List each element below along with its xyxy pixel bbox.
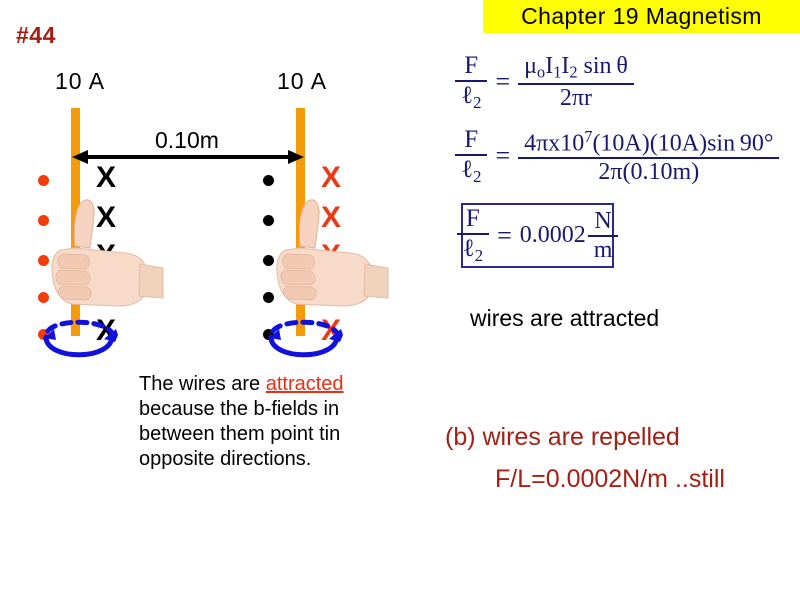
field-dot <box>263 175 274 186</box>
right-hand-rule-hand-right <box>270 198 390 323</box>
attracted-statement: wires are attracted <box>470 305 659 332</box>
right-hand-rule-hand-left <box>45 198 165 323</box>
chapter-title-banner: Chapter 19 Magnetism <box>483 0 800 33</box>
equation-result-box: F ℓ2 = 0.0002 N m <box>461 203 614 268</box>
equation-2-lhs: F ℓ2 <box>455 126 487 187</box>
unit-numerator: N <box>588 208 617 235</box>
equation-2-rhs: 4πx107(10A)(10A)sin 90° 2π(0.10m) <box>518 127 779 186</box>
equation-1-lhs: F ℓ2 <box>455 52 487 113</box>
magnetic-field-loop-left <box>32 311 128 367</box>
equation-3-value: 0.0002 <box>520 222 586 249</box>
equation-2-lhs-numerator: F <box>458 126 484 154</box>
answer-b-detail: F/L=0.0002N/m ..still <box>495 465 725 494</box>
equation-general-force: F ℓ2 = μoI1I2 sin θ 2πr <box>455 52 634 113</box>
equals-sign: = <box>487 67 518 97</box>
unit-denominator: m <box>588 237 619 264</box>
explanation-part-2: because the b-fields in between them poi… <box>139 398 340 470</box>
field-cross: X <box>321 163 341 193</box>
explanation-paragraph: The wires are attracted because the b-fi… <box>139 372 349 472</box>
equation-1-lhs-denominator: ℓ2 <box>455 82 487 113</box>
explanation-highlight: attracted <box>266 373 344 395</box>
equation-1-rhs-denominator: 2πr <box>554 85 598 112</box>
equation-substituted-values: F ℓ2 = 4πx107(10A)(10A)sin 90° 2π(0.10m) <box>455 126 779 187</box>
equation-3-lhs: F ℓ2 <box>457 205 489 266</box>
equation-2-lhs-denominator: ℓ2 <box>455 156 487 187</box>
equation-3-unit: N m <box>588 208 619 264</box>
chapter-title-text: Chapter 19 Magnetism <box>521 3 762 30</box>
answer-b-statement: (b) wires are repelled <box>445 423 680 452</box>
equals-sign: = <box>489 221 520 251</box>
equation-2-rhs-numerator: 4πx107(10A)(10A)sin 90° <box>518 127 779 157</box>
equation-2-rhs-denominator: 2π(0.10m) <box>592 159 705 186</box>
explanation-part-1: The wires are <box>139 373 266 395</box>
equation-3-lhs-numerator: F <box>460 205 486 233</box>
field-dot <box>38 175 49 186</box>
current-label-left-wire: 10 A <box>55 68 105 95</box>
current-label-right-wire: 10 A <box>277 68 327 95</box>
magnetic-field-loop-right <box>257 311 353 367</box>
equation-1-lhs-numerator: F <box>458 52 484 80</box>
equation-3: F ℓ2 = 0.0002 N m <box>457 205 619 266</box>
field-cross: X <box>96 163 116 193</box>
equation-1-rhs-numerator: μoI1I2 sin θ <box>518 53 634 83</box>
slide-number-label: #44 <box>16 22 56 49</box>
equals-sign: = <box>487 141 518 171</box>
equation-1-rhs: μoI1I2 sin θ 2πr <box>518 53 634 112</box>
equation-3-lhs-denominator: ℓ2 <box>457 235 489 266</box>
